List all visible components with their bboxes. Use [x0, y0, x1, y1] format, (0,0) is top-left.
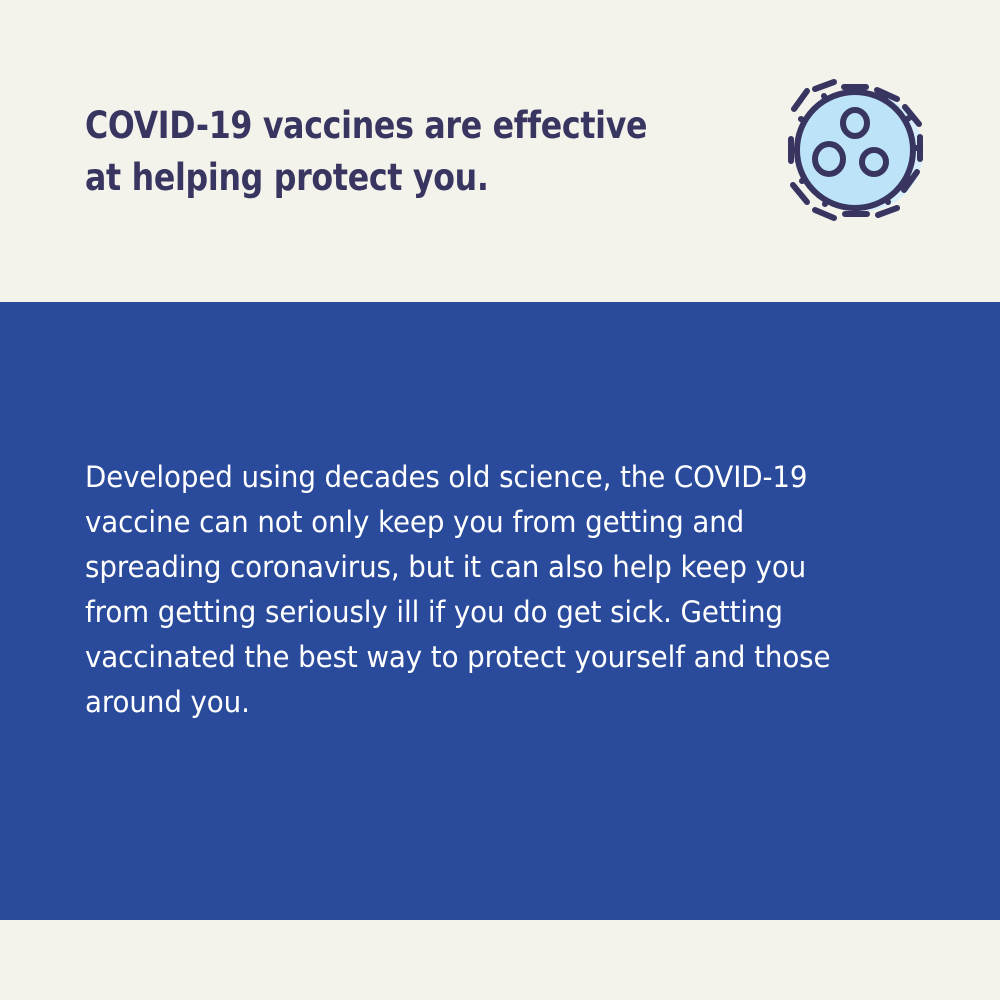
- headline-line-2: at helping protect you.: [85, 152, 693, 204]
- body-line-2: vaccine can not only keep you from getti…: [85, 500, 868, 545]
- coronavirus-icon: [782, 62, 938, 222]
- body-line-5: vaccinated the best way to protect yours…: [85, 635, 868, 680]
- page-title: COVID-19 vaccines are effective at helpi…: [85, 100, 693, 204]
- body-line-1: Developed using decades old science, the…: [85, 455, 868, 500]
- body-line-3: spreading coronavirus, but it can also h…: [85, 545, 868, 590]
- body-line-6: around you.: [85, 680, 868, 725]
- body-line-4: from getting seriously ill if you do get…: [85, 590, 868, 635]
- infographic-poster: COVID-19 vaccines are effective at helpi…: [0, 0, 1000, 1000]
- body-panel: Developed using decades old science, the…: [0, 302, 1000, 920]
- footer-band: [0, 920, 1000, 1000]
- header-band: COVID-19 vaccines are effective at helpi…: [0, 0, 1000, 302]
- body-paragraph: Developed using decades old science, the…: [85, 455, 868, 725]
- headline-line-1: COVID-19 vaccines are effective: [85, 100, 693, 152]
